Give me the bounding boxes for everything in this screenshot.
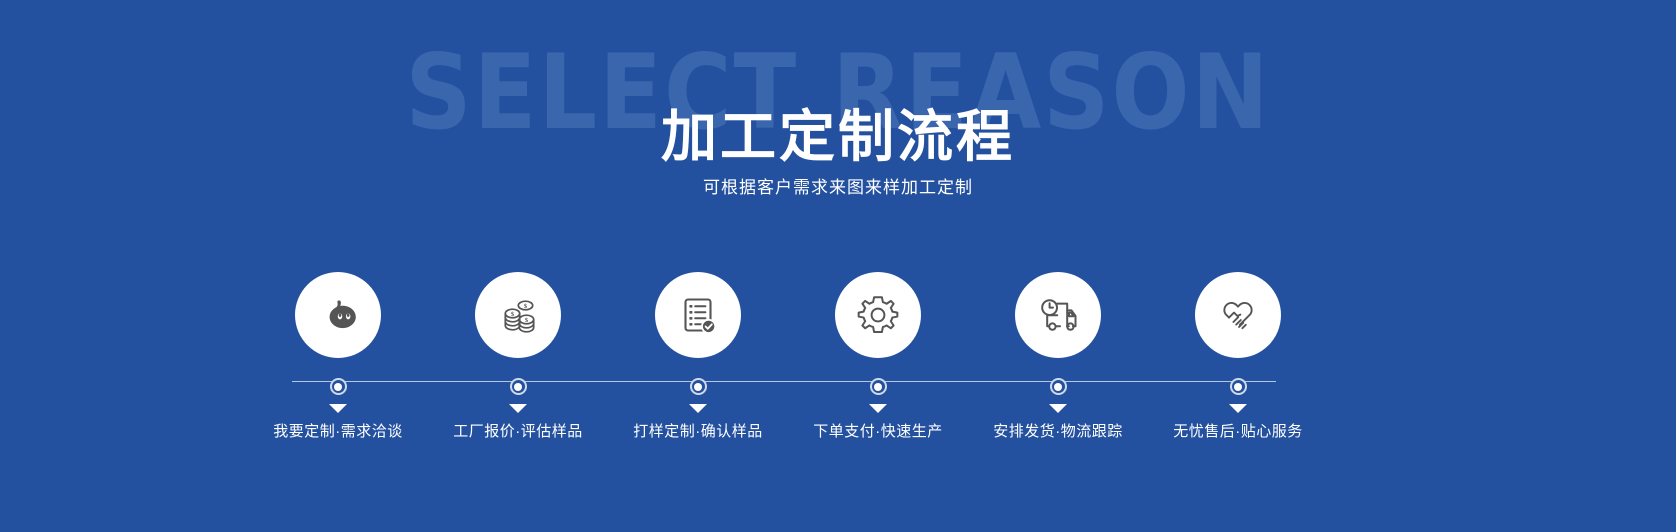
delivery-truck-icon	[1033, 290, 1083, 340]
timeline-dot-core-6	[1234, 383, 1242, 391]
step-label-4: 下单支付·快速生产	[813, 422, 943, 442]
timeline-dot-core-4	[874, 383, 882, 391]
step-item-2[interactable]: $ $ $ 工厂报价·评估样品	[428, 272, 608, 442]
document-check-icon	[674, 291, 722, 339]
timeline-dot-core-2	[514, 383, 522, 391]
pointer-triangle-1	[329, 404, 347, 413]
process-banner: SELECT REASON 加工定制流程 可根据客户需求来图来样加工定制 我要定…	[0, 0, 1676, 532]
page-title: 加工定制流程	[0, 104, 1676, 170]
pointer-triangle-3	[689, 404, 707, 413]
step-item-3[interactable]: 打样定制·确认样品	[608, 272, 788, 442]
timeline-dot-4	[870, 378, 887, 395]
step-label-6: 无忧售后·贴心服务	[1173, 422, 1303, 442]
handshake-heart-icon	[1213, 290, 1263, 340]
timeline-dot-core-1	[334, 383, 342, 391]
step-item-5[interactable]: 安排发货·物流跟踪	[968, 272, 1148, 442]
timeline-dot-5	[1050, 378, 1067, 395]
step-icon-circle-1	[295, 272, 381, 358]
step-item-1[interactable]: 我要定制·需求洽谈	[248, 272, 428, 442]
gear-icon	[853, 290, 903, 340]
step-icon-circle-2: $ $ $	[475, 272, 561, 358]
step-icon-circle-5	[1015, 272, 1101, 358]
timeline-dot-1	[330, 378, 347, 395]
step-item-6[interactable]: 无忧售后·贴心服务	[1148, 272, 1328, 442]
process-steps: 我要定制·需求洽谈	[248, 272, 1328, 452]
step-icon-circle-6	[1195, 272, 1281, 358]
step-label-3: 打样定制·确认样品	[633, 422, 763, 442]
pointer-triangle-6	[1229, 404, 1247, 413]
page-subtitle: 可根据客户需求来图来样加工定制	[0, 177, 1676, 199]
step-label-1: 我要定制·需求洽谈	[273, 422, 403, 442]
timeline-dot-core-5	[1054, 383, 1062, 391]
coins-stack-icon: $ $ $	[493, 290, 543, 340]
chat-bubble-icon	[314, 291, 362, 339]
step-icon-circle-3	[655, 272, 741, 358]
step-icon-circle-4	[835, 272, 921, 358]
timeline-dot-3	[690, 378, 707, 395]
step-item-4[interactable]: 下单支付·快速生产	[788, 272, 968, 442]
pointer-triangle-5	[1049, 404, 1067, 413]
timeline-dot-core-3	[694, 383, 702, 391]
timeline-dot-6	[1230, 378, 1247, 395]
pointer-triangle-2	[509, 404, 527, 413]
step-label-2: 工厂报价·评估样品	[453, 422, 583, 442]
step-label-5: 安排发货·物流跟踪	[993, 422, 1123, 442]
pointer-triangle-4	[869, 404, 887, 413]
timeline-dot-2	[510, 378, 527, 395]
